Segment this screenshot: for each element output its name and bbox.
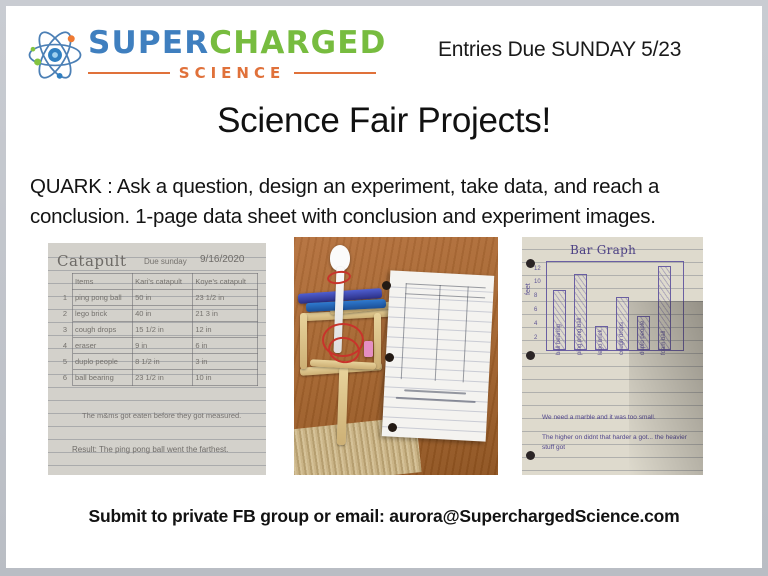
data-sheet-due-label: Due sunday — [144, 257, 187, 266]
row-kari-value: 15 1/2 in — [133, 322, 193, 338]
row-koye-value: 12 in — [193, 322, 258, 338]
table-row: 2 lego brick 40 in 21 3 in — [58, 306, 258, 322]
row-item: ball bearing — [73, 370, 133, 386]
binder-hole — [526, 451, 535, 460]
bar-graph-y-axis-label: feet — [525, 283, 532, 295]
row-kari-value: 9 in — [133, 338, 193, 354]
logo-main-words: SUPERCHARGED — [88, 28, 388, 59]
row-number: 3 — [58, 322, 73, 338]
row-item: cough drops — [73, 322, 133, 338]
logo-word-science: SCIENCE — [170, 64, 294, 82]
table-header-row: Items Kari's catapult Koye's catapult — [58, 274, 258, 290]
row-item: eraser — [73, 338, 133, 354]
y-tick: 6 — [534, 307, 537, 313]
row-koye-value: 10 in — [193, 370, 258, 386]
bar-label: cough drops — [619, 322, 625, 355]
page-title: Science Fair Projects! — [6, 101, 762, 141]
row-item: duplo people — [73, 354, 133, 370]
col-koye: Koye's catapult — [193, 274, 258, 290]
photographed-data-sheet — [382, 270, 495, 441]
row-kari-value: 50 in — [133, 290, 193, 306]
row-koye-value: 23 1/2 in — [193, 290, 258, 306]
body-paragraph: QUARK : Ask a question, design an experi… — [30, 172, 746, 231]
binder-hole — [526, 351, 535, 360]
bar-graph-conclusion-line-2: The higher on didnt that harder a got...… — [542, 433, 692, 453]
photo-bar-graph-sheet: Bar Graph feet 12 10 8 6 4 2 ball bearin… — [522, 237, 703, 475]
catapult-stick-left — [300, 313, 307, 369]
row-item: ping pong ball — [73, 290, 133, 306]
binder-hole — [382, 281, 391, 290]
data-sheet-note: The m&ms got eaten before they got measu… — [82, 411, 246, 420]
row-kari-value: 8 1/2 in — [133, 354, 193, 370]
logo-word-super: SUPER — [88, 25, 209, 61]
footer-submission-text: Submit to private FB group or email: aur… — [6, 506, 762, 527]
col-items: Items — [73, 274, 133, 290]
data-sheet-title: Catapult — [57, 252, 126, 270]
photo-catapult-data-sheet: Catapult Due sunday 9/16/2020 Items Kari… — [48, 243, 266, 475]
row-number: 6 — [58, 370, 73, 386]
pink-tag — [364, 341, 373, 357]
bar-label: ping pong ball — [577, 318, 583, 355]
row-koye-value: 6 in — [193, 338, 258, 354]
row-kari-value: 23 1/2 in — [133, 370, 193, 386]
y-tick: 12 — [534, 266, 541, 272]
table-body: 1 ping pong ball 50 in 23 1/2 in 2 lego … — [58, 290, 258, 386]
bar-label: duplo people — [640, 321, 646, 355]
logo-rule-right — [294, 72, 376, 74]
notecard-table-lines — [401, 283, 486, 383]
catapult-results-table: Items Kari's catapult Koye's catapult 1 … — [58, 273, 258, 386]
binder-hole — [526, 259, 535, 268]
atom-icon — [26, 26, 84, 84]
row-kari-value: 40 in — [133, 306, 193, 322]
table-row: 4 eraser 9 in 6 in — [58, 338, 258, 354]
bar-label: lego brick — [598, 329, 604, 355]
logo-rule-left — [88, 72, 170, 74]
deadline-text: Entries Due SUNDAY 5/23 — [438, 38, 681, 62]
row-number: 5 — [58, 354, 73, 370]
table-row: 6 ball bearing 23 1/2 in 10 in — [58, 370, 258, 386]
table-row: 3 cough drops 15 1/2 in 12 in — [58, 322, 258, 338]
binder-hole — [388, 423, 397, 432]
bar-label: foam ball — [661, 331, 667, 355]
logo-subline: SCIENCE — [88, 64, 376, 82]
table-row: 1 ping pong ball 50 in 23 1/2 in — [58, 290, 258, 306]
logo-word-charged: CHARGED — [209, 25, 386, 61]
presentation-slide: SUPERCHARGED SCIENCE Entries Due SUNDAY … — [6, 6, 762, 568]
bar-graph-title: Bar Graph — [570, 243, 636, 257]
bar-label: ball bearing — [556, 324, 562, 355]
y-tick: 10 — [534, 279, 541, 285]
table-row: 5 duplo people 8 1/2 in 3 in — [58, 354, 258, 370]
y-tick: 2 — [534, 335, 537, 341]
data-sheet-result: Result: The ping pong ball went the fart… — [72, 445, 252, 455]
row-koye-value: 3 in — [193, 354, 258, 370]
binder-hole — [385, 353, 394, 362]
logo-wordmark: SUPERCHARGED SCIENCE — [88, 28, 388, 82]
table-head: Items Kari's catapult Koye's catapult — [58, 274, 258, 290]
example-photo-strip: Catapult Due sunday 9/16/2020 Items Kari… — [6, 237, 762, 475]
bar-graph-conclusion-line-1: We need a marble and it was too small. — [542, 413, 692, 423]
col-kari: Kari's catapult — [133, 274, 193, 290]
row-number: 4 — [58, 338, 73, 354]
slide-outer-frame: SUPERCHARGED SCIENCE Entries Due SUNDAY … — [0, 0, 768, 576]
y-tick: 4 — [534, 321, 537, 327]
row-item: lego brick — [73, 306, 133, 322]
catapult-stick-right — [374, 313, 381, 369]
y-tick: 8 — [534, 293, 537, 299]
data-sheet-date: 9/16/2020 — [200, 254, 245, 265]
row-number: 1 — [58, 290, 73, 306]
supercharged-science-logo: SUPERCHARGED SCIENCE — [26, 22, 386, 88]
row-number: 2 — [58, 306, 73, 322]
col-row-number — [58, 274, 73, 290]
row-koye-value: 21 3 in — [193, 306, 258, 322]
photo-catapult-build — [294, 237, 498, 475]
